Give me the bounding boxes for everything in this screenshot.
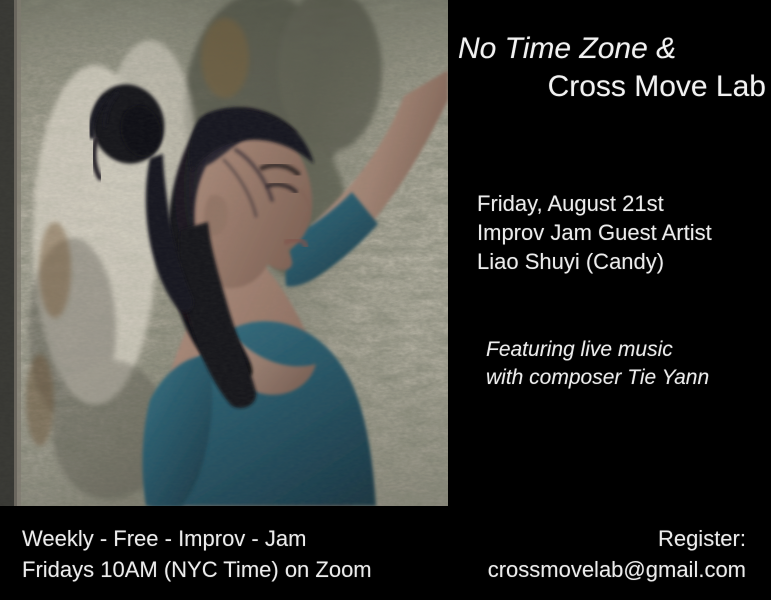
poster-root: No Time Zone & Cross Move Lab Friday, Au… xyxy=(0,0,771,600)
event-details: Friday, August 21st Improv Jam Guest Art… xyxy=(477,189,767,276)
poster-title: No Time Zone & Cross Move Lab xyxy=(458,30,771,106)
dancer-photo xyxy=(0,0,448,506)
featuring-block: Featuring live music with composer Tie Y… xyxy=(486,336,771,392)
title-line-no-time-zone: No Time Zone & xyxy=(458,30,771,68)
poster-footer: Weekly - Free - Improv - Jam Fridays 10A… xyxy=(0,506,771,600)
poster-text-column: No Time Zone & Cross Move Lab Friday, Au… xyxy=(448,0,771,506)
event-guest-artist: Liao Shuyi (Candy) xyxy=(477,247,767,276)
event-date: Friday, August 21st xyxy=(477,189,767,218)
featuring-line-1: Featuring live music xyxy=(486,336,771,364)
register-label: Register: xyxy=(488,523,746,554)
footer-tagline: Weekly - Free - Improv - Jam xyxy=(22,523,372,554)
footer-schedule: Fridays 10AM (NYC Time) on Zoom xyxy=(22,554,372,585)
event-subtitle: Improv Jam Guest Artist xyxy=(477,218,767,247)
dancer-photo-image xyxy=(0,0,448,506)
register-email[interactable]: crossmovelab@gmail.com xyxy=(488,554,746,585)
featuring-line-2: with composer Tie Yann xyxy=(486,364,771,392)
footer-right-block: Register: crossmovelab@gmail.com xyxy=(488,523,746,585)
footer-left-block: Weekly - Free - Improv - Jam Fridays 10A… xyxy=(22,523,372,585)
title-line-cross-move-lab: Cross Move Lab xyxy=(458,68,771,106)
